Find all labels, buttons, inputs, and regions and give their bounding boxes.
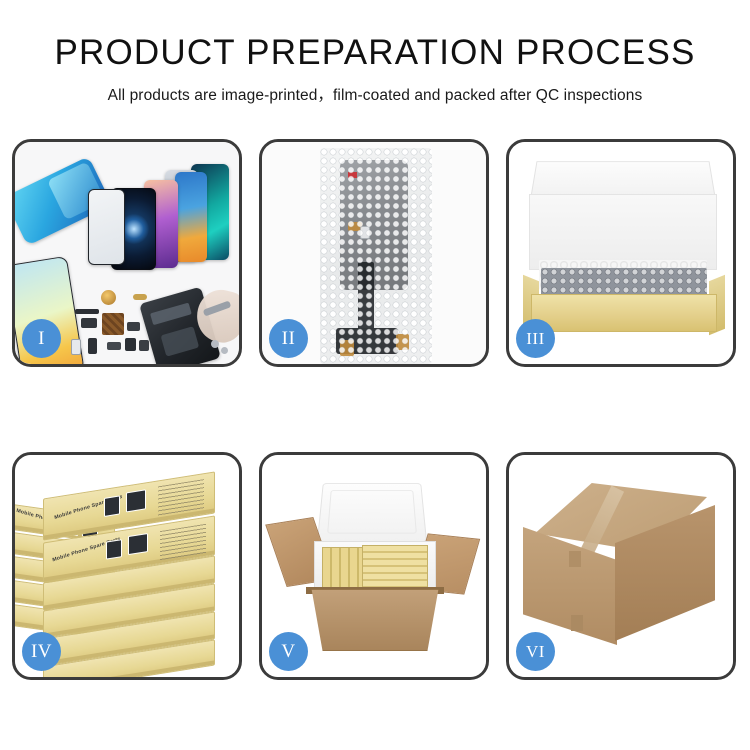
process-steps-grid: I II — [12, 139, 738, 680]
step-panel-5[interactable]: V — [259, 452, 489, 680]
carton-seam-top — [569, 551, 581, 567]
step-badge-5: V — [269, 632, 308, 671]
part-gold-connector — [133, 294, 147, 300]
part-module-d — [125, 338, 136, 351]
part-module-c — [127, 322, 140, 331]
carton-seam-bottom — [571, 615, 583, 631]
phone-glass-panel — [88, 189, 125, 265]
part-contact-grid — [102, 313, 124, 335]
step-badge-6: VI — [516, 632, 555, 671]
part-screw-1 — [211, 340, 219, 348]
step-badge-4: IV — [22, 632, 61, 671]
part-antenna-strip — [75, 309, 99, 314]
box-front-panel — [531, 294, 717, 332]
page-subtitle: All products are image-printed，film-coat… — [0, 83, 750, 105]
step-badge-2: II — [269, 319, 308, 358]
step-panel-3[interactable]: III — [506, 139, 736, 367]
part-screw-2 — [221, 347, 228, 354]
gold-boxes-row-2 — [362, 545, 428, 589]
part-speaker-coil — [101, 290, 116, 305]
step-panel-1[interactable]: I — [12, 139, 242, 367]
part-module-e — [139, 340, 149, 351]
page-header: PRODUCT PREPARATION PROCESS All products… — [0, 0, 750, 105]
box-back-wall — [529, 194, 717, 270]
step-panel-2[interactable]: II — [259, 139, 489, 367]
carton-body — [306, 589, 444, 651]
part-module-a — [81, 318, 97, 328]
foam-lid — [317, 483, 427, 542]
part-module-f — [107, 342, 121, 350]
phone-orange — [175, 172, 207, 262]
part-sim-tray — [71, 339, 81, 355]
page-title: PRODUCT PREPARATION PROCESS — [0, 34, 750, 73]
bubble-wrap-overlay — [320, 148, 432, 364]
step-badge-1: I — [22, 319, 61, 358]
step-badge-3: III — [516, 319, 555, 358]
step-panel-6[interactable]: VI — [506, 452, 736, 680]
part-module-b — [88, 338, 97, 354]
product-preparation-page: PRODUCT PREPARATION PROCESS All products… — [0, 0, 750, 750]
step-panel-4[interactable]: Mobile Phone Spare Parts Mobile Phone Sp… — [12, 452, 242, 680]
